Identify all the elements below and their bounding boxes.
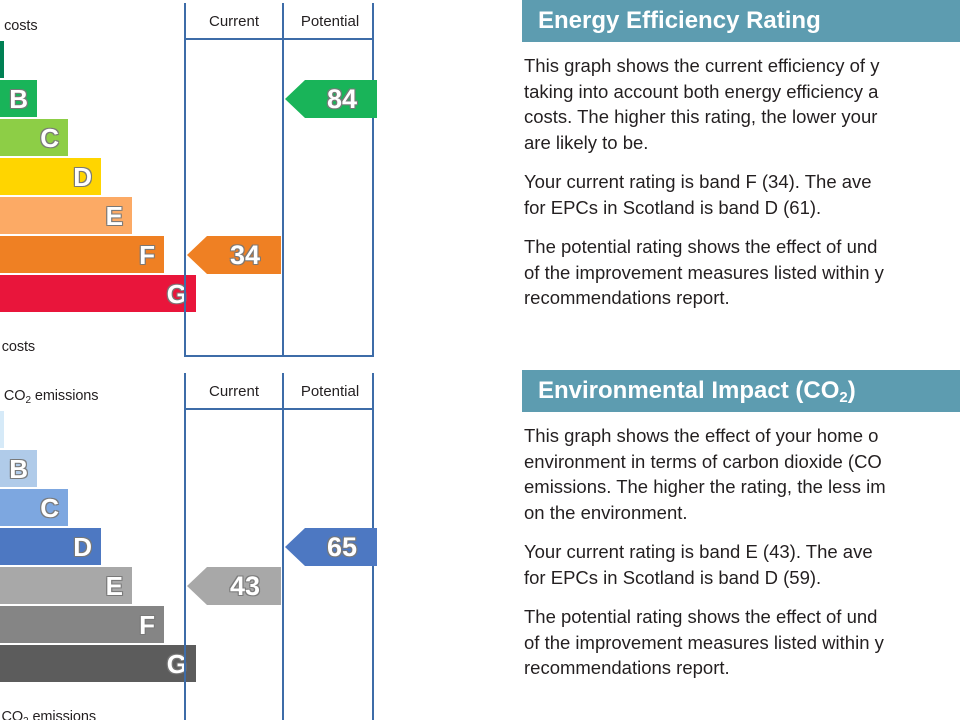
- co2-current-rating-arrow: 43: [187, 567, 281, 605]
- energy-band-d-letter: D: [73, 164, 92, 190]
- co2-band-e-letter: E: [106, 573, 123, 599]
- energy-band-e-bar: (39-54) E: [0, 197, 132, 234]
- co2-info-panel: Environmental Impact (CO2) This graph sh…: [522, 370, 960, 695]
- energy-band-f-letter: F: [139, 242, 155, 268]
- co2-band-d-letter: D: [73, 534, 92, 560]
- energy-band-f-bar: (21-38) F: [0, 236, 164, 273]
- co2-scale-top-text: ally friendly - lower CO: [0, 388, 25, 404]
- energy-scale-bottom-label: nt - higher running costs: [0, 339, 35, 355]
- co2-subscript-bottom: 2: [23, 716, 28, 720]
- energy-band-d-bar: (55-68) D: [0, 158, 101, 195]
- table-header-divider: [186, 408, 372, 410]
- co2-scale-top-tail: emissions: [31, 388, 99, 404]
- co2-band-d-bar: (55-68) D: [0, 528, 101, 565]
- co2-scale-bottom-tail: emissions: [29, 709, 97, 720]
- energy-band-b-letter: B: [9, 86, 28, 112]
- table-header-divider: [186, 38, 372, 40]
- energy-panel-body: This graph shows the current efficiency …: [522, 42, 960, 311]
- co2-band-c-bar: (69-80) C: [0, 489, 68, 526]
- energy-potential-header: Potential: [284, 9, 376, 35]
- energy-panel-title: Energy Efficiency Rating: [522, 0, 960, 42]
- energy-current-header: Current: [186, 9, 282, 35]
- energy-efficiency-block: ent - lower running costs (92 plus) A (8…: [0, 0, 960, 360]
- energy-band-c-bar: (69-80) C: [0, 119, 68, 156]
- co2-band-b-letter: B: [9, 456, 28, 482]
- co2-band-a-bar: (92 plus) A: [0, 411, 4, 448]
- co2-scale-bottom-label: lly friendly - higher CO2 emissions: [0, 709, 96, 720]
- co2-subscript-top: 2: [25, 395, 30, 406]
- co2-panel-body: This graph shows the effect of your home…: [522, 412, 960, 681]
- energy-band-a-bar: (92 plus) A: [0, 41, 4, 78]
- co2-scale-bottom-text: lly friendly - higher CO: [0, 709, 23, 720]
- energy-band-c-letter: C: [40, 125, 59, 151]
- co2-panel-title-tail: ): [848, 377, 856, 404]
- energy-paragraph-2: Your current rating is band F (34). The …: [524, 169, 960, 220]
- co2-panel-title: Environmental Impact (CO2): [522, 370, 960, 412]
- co2-band-g-bar: (1-20) G: [0, 645, 196, 682]
- co2-paragraph-2: Your current rating is band E (43). The …: [524, 539, 960, 590]
- co2-current-header: Current: [186, 379, 282, 405]
- co2-band-e-bar: (39-54) E: [0, 567, 132, 604]
- co2-band-f-letter: F: [139, 612, 155, 638]
- co2-rating-table: Current Potential 43 65: [184, 373, 374, 720]
- co2-potential-header: Potential: [284, 379, 376, 405]
- table-column-divider: [282, 3, 284, 355]
- co2-band-c-letter: C: [40, 495, 59, 521]
- energy-panel-title-text: Energy Efficiency Rating: [538, 7, 821, 34]
- co2-band-b-bar: (81-91) B: [0, 450, 37, 487]
- energy-info-panel: Energy Efficiency Rating This graph show…: [522, 0, 960, 325]
- energy-rating-table: Current Potential 34 84: [184, 3, 374, 357]
- energy-current-rating-arrow: 34: [187, 236, 281, 274]
- co2-band-f-bar: (21-38) F: [0, 606, 164, 643]
- environmental-impact-block: ally friendly - lower CO2 emissions (92 …: [0, 370, 960, 720]
- epc-graphs-page: ent - lower running costs (92 plus) A (8…: [0, 0, 960, 720]
- co2-title-subscript: 2: [839, 389, 847, 406]
- co2-panel-title-text: Environmental Impact (CO: [538, 377, 839, 404]
- energy-paragraph-1: This graph shows the current efficiency …: [524, 53, 960, 155]
- energy-potential-rating-arrow: 84: [285, 80, 377, 118]
- environmental-impact-chart: ally friendly - lower CO2 emissions (92 …: [0, 370, 302, 720]
- co2-scale-top-label: ally friendly - lower CO2 emissions: [0, 388, 98, 404]
- energy-efficiency-chart: ent - lower running costs (92 plus) A (8…: [0, 0, 302, 360]
- co2-potential-rating-arrow: 65: [285, 528, 377, 566]
- energy-band-g-bar: (1-20) G: [0, 275, 196, 312]
- table-column-divider: [282, 373, 284, 720]
- co2-paragraph-1: This graph shows the effect of your home…: [524, 423, 960, 525]
- energy-scale-top-label: ent - lower running costs: [0, 18, 37, 34]
- energy-paragraph-3: The potential rating shows the effect of…: [524, 234, 960, 311]
- co2-paragraph-3: The potential rating shows the effect of…: [524, 604, 960, 681]
- energy-band-b-bar: (81-91) B: [0, 80, 37, 117]
- energy-band-e-letter: E: [106, 203, 123, 229]
